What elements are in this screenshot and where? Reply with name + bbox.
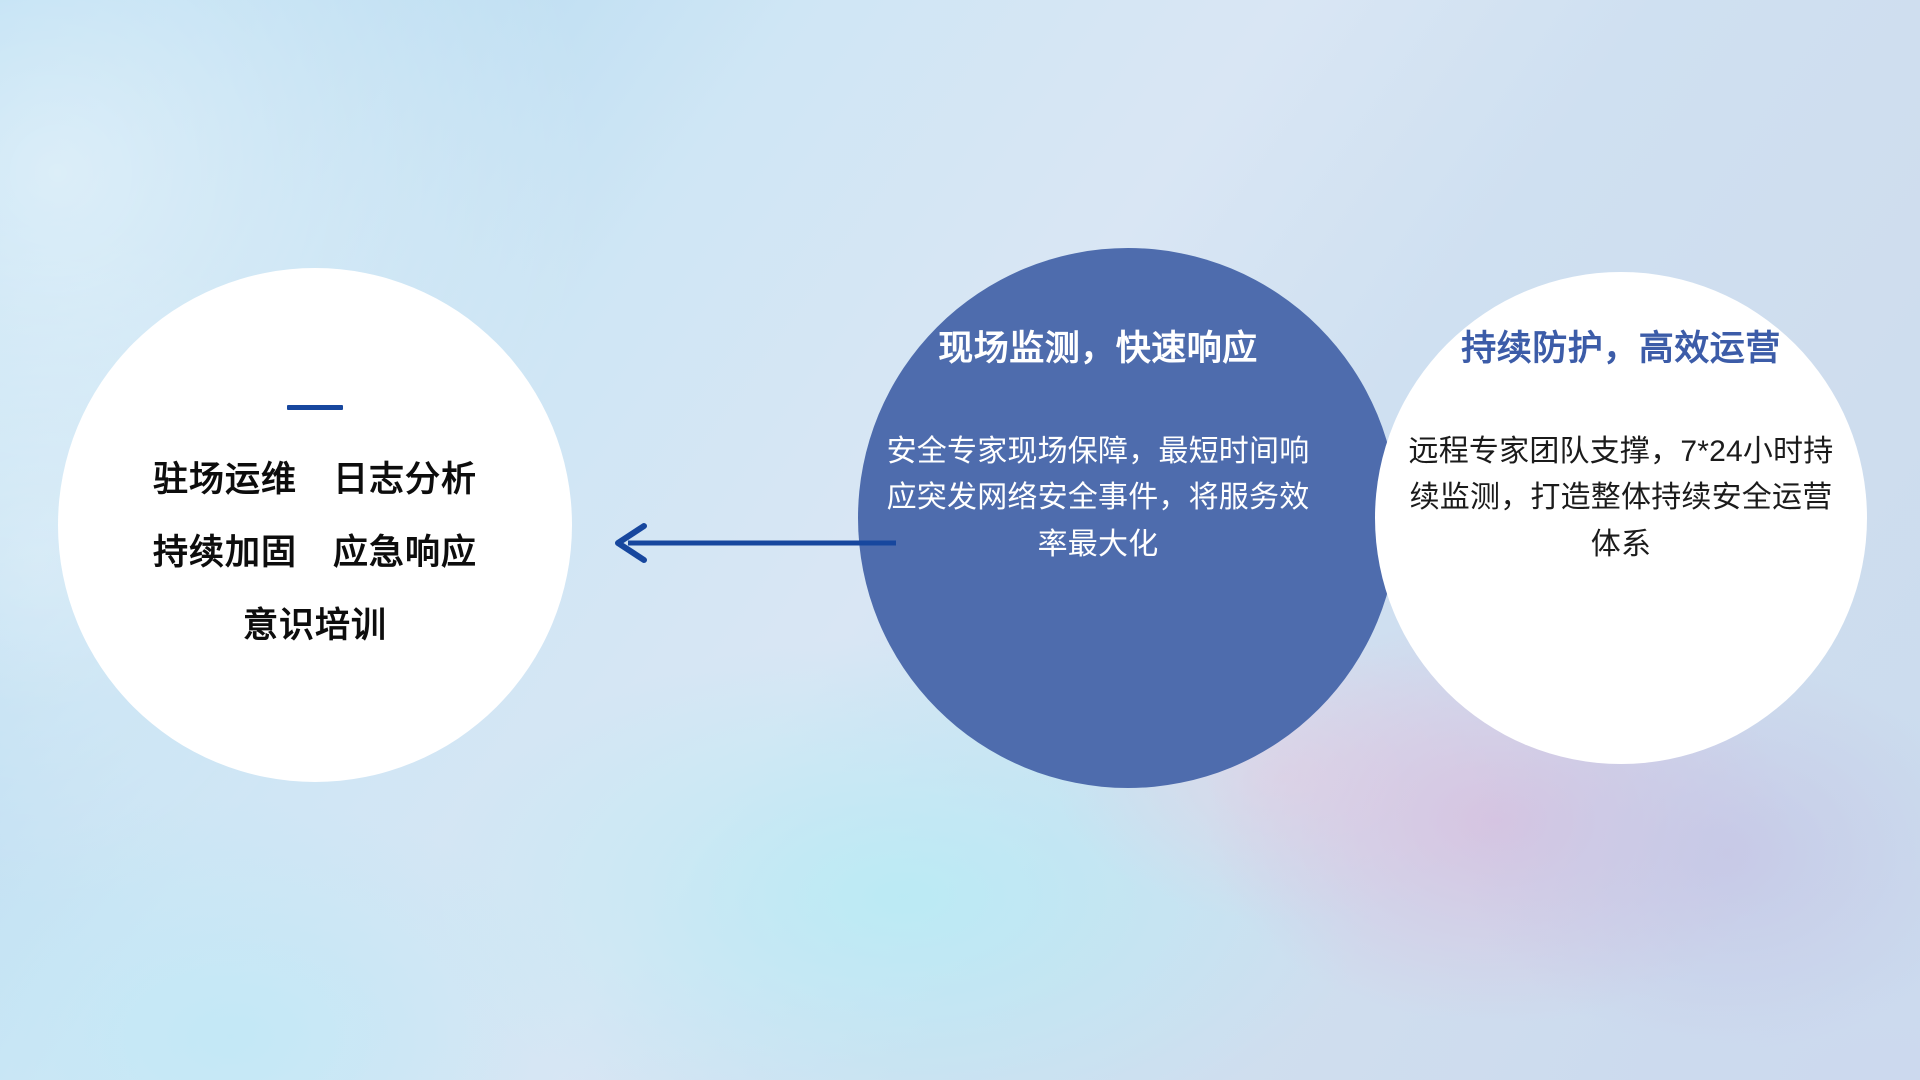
left-circle-content: 驻场运维 日志分析 持续加固 应急响应 意识培训 [58, 268, 572, 782]
right-circle-content: 持续防护，高效运营 远程专家团队支撑，7*24小时持续监测，打造整体持续安全运营… [1395, 330, 1847, 568]
right-circle-body: 远程专家团队支撑，7*24小时持续监测，打造整体持续安全运营体系 [1395, 429, 1847, 569]
arrow-svg [600, 508, 900, 578]
slide-canvas: 驻场运维 日志分析 持续加固 应急响应 意识培训 现场监测，快速响应 安全专家现… [0, 0, 1920, 1080]
middle-circle-body: 安全专家现场保障，最短时间响应突发网络安全事件，将服务效率最大化 [878, 429, 1318, 569]
left-service-line-3: 意识培训 [243, 608, 387, 645]
accent-dash-icon [287, 405, 343, 410]
flow-arrow-left-icon [600, 508, 900, 578]
middle-circle-title: 现场监测，快速响应 [878, 330, 1318, 369]
left-service-line-2: 持续加固 应急响应 [153, 535, 477, 572]
right-circle-title: 持续防护，高效运营 [1395, 330, 1847, 369]
left-service-line-1: 驻场运维 日志分析 [153, 462, 477, 499]
middle-circle-content: 现场监测，快速响应 安全专家现场保障，最短时间响应突发网络安全事件，将服务效率最… [878, 330, 1318, 568]
